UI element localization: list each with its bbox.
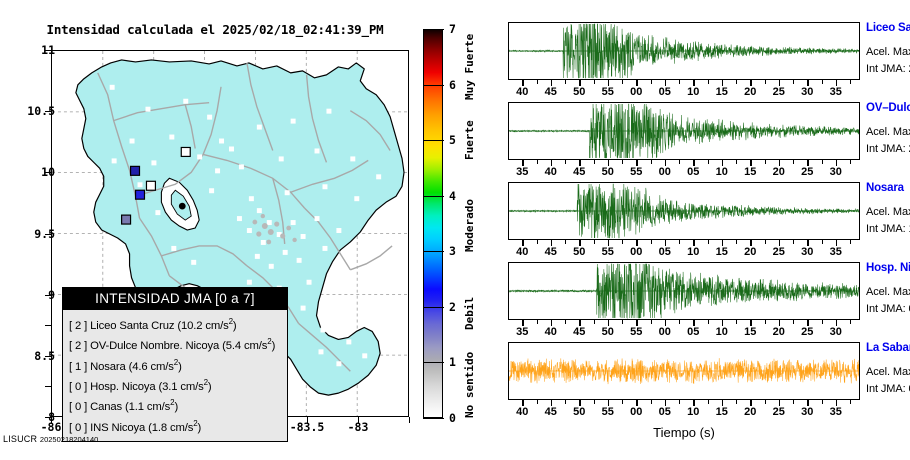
time-tick-label: 15 bbox=[716, 406, 728, 418]
time-minor-tick bbox=[537, 400, 538, 404]
legend-accel-unit: cm/s bbox=[151, 360, 174, 372]
seismogram-info: La SabanaAcel. Max. 0.0Int JMA: 0 bbox=[866, 342, 910, 395]
time-tick-label: 00 bbox=[659, 166, 671, 178]
waveform-polyline bbox=[509, 24, 859, 78]
colorbar-label-5: 5 bbox=[449, 133, 456, 147]
colorbar-tick bbox=[423, 307, 444, 308]
time-minor-tick bbox=[537, 80, 538, 84]
time-minor-tick bbox=[594, 400, 595, 404]
intensity-colorbar bbox=[423, 29, 443, 418]
watermark: LISUCR 20250218204140 bbox=[3, 434, 98, 444]
time-minor-tick bbox=[850, 160, 851, 164]
time-minor-tick bbox=[765, 160, 766, 164]
colorbar-label-2: 2 bbox=[449, 300, 456, 314]
time-minor-tick bbox=[622, 80, 623, 84]
waveform-svg bbox=[509, 103, 859, 159]
waveform-svg bbox=[509, 343, 859, 399]
time-tick-label: 40 bbox=[516, 86, 528, 98]
legend-row: [ 1 ] Nosara (4.6 cm/s2) bbox=[69, 355, 281, 375]
legend-row: [ 0 ] Hosp. Nicoya (3.1 cm/s2) bbox=[69, 375, 281, 395]
time-tick-label: 35 bbox=[830, 86, 842, 98]
time-minor-tick bbox=[651, 240, 652, 244]
station-marker-canas[interactable] bbox=[181, 147, 190, 156]
time-tick-label: 40 bbox=[545, 166, 557, 178]
time-tick-label: 20 bbox=[773, 326, 785, 338]
accel-max-readout: Acel. Max. 0.0 bbox=[866, 366, 910, 378]
legend-accel-unit: cm/s bbox=[205, 320, 228, 332]
page-title: Intensidad calculada el 2025/02/18_02:41… bbox=[0, 22, 430, 37]
legend-jma-value: [ 2 ] bbox=[69, 320, 87, 332]
legend-jma-value: [ 0 ] bbox=[69, 381, 87, 393]
time-minor-tick bbox=[793, 160, 794, 164]
station-marker-hosp-nicoya[interactable] bbox=[146, 181, 155, 190]
time-minor-tick bbox=[708, 400, 709, 404]
legend-row: [ 0 ] Canas (1.1 cm/s2) bbox=[69, 395, 281, 415]
time-minor-tick bbox=[793, 320, 794, 324]
time-tick-label: 35 bbox=[830, 246, 842, 258]
time-tick-label: 40 bbox=[516, 246, 528, 258]
int-jma-readout: Int JMA: 1 bbox=[866, 223, 910, 235]
legend-jma-value: [ 2 ] bbox=[69, 340, 87, 352]
time-tick-label: 55 bbox=[630, 326, 642, 338]
time-tick-label: 50 bbox=[573, 406, 585, 418]
spacer bbox=[866, 274, 910, 286]
time-tick-label: 15 bbox=[716, 246, 728, 258]
x-tick bbox=[409, 417, 410, 423]
time-tick-label: 25 bbox=[773, 406, 785, 418]
time-tick-label: 50 bbox=[602, 166, 614, 178]
y-tick bbox=[45, 325, 51, 326]
station-marker-liceo-santa-crug[interactable] bbox=[131, 166, 140, 175]
colorbar-tick bbox=[423, 362, 444, 363]
time-minor-tick bbox=[765, 80, 766, 84]
colorbar-tick bbox=[423, 196, 444, 197]
time-minor-tick bbox=[622, 160, 623, 164]
legend-accel-unit: cm/s bbox=[147, 401, 170, 413]
time-minor-tick bbox=[736, 160, 737, 164]
time-tick-label: 00 bbox=[659, 326, 671, 338]
time-minor-tick bbox=[850, 400, 851, 404]
legend-jma-value: [ 0 ] bbox=[69, 422, 87, 434]
int-jma-prefix: Int JMA: bbox=[866, 303, 906, 315]
seismogram-row: 354045505500051015202530Hosp. NicoyaAcel… bbox=[468, 262, 910, 342]
legend-accel-exponent: 2 bbox=[170, 398, 174, 407]
time-tick-label: 25 bbox=[773, 86, 785, 98]
int-jma-readout: Int JMA: 2 bbox=[866, 63, 910, 75]
time-tick-label: 05 bbox=[687, 326, 699, 338]
colorbar-tick bbox=[423, 85, 444, 86]
watermark-prefix: LISUCR bbox=[3, 434, 37, 444]
legend-jma-value: [ 0 ] bbox=[69, 401, 87, 413]
time-tick-label: 05 bbox=[659, 406, 671, 418]
time-minor-tick bbox=[708, 80, 709, 84]
station-name-label[interactable]: Nosara bbox=[866, 182, 910, 194]
time-tick-label: 45 bbox=[573, 166, 585, 178]
x-axis-label-5: -83.5 bbox=[290, 420, 325, 434]
time-tick-label: 25 bbox=[801, 166, 813, 178]
time-minor-tick bbox=[822, 80, 823, 84]
accel-max-readout: Acel. Max. 0.2 bbox=[866, 286, 910, 298]
time-tick-label: 15 bbox=[744, 326, 756, 338]
time-minor-tick bbox=[622, 400, 623, 404]
time-tick-label: 20 bbox=[744, 246, 756, 258]
time-minor-tick bbox=[651, 160, 652, 164]
time-minor-tick bbox=[651, 80, 652, 84]
station-name-label[interactable]: Hosp. Nicoya bbox=[866, 262, 910, 274]
legend-station-name: OV-Dulce Nombre. Nicoya bbox=[90, 340, 219, 352]
time-minor-tick bbox=[765, 240, 766, 244]
y-axis-label-2: 9 bbox=[15, 288, 55, 302]
time-tick-label: 55 bbox=[602, 86, 614, 98]
time-tick-label: 30 bbox=[801, 86, 813, 98]
int-jma-prefix: Int JMA: bbox=[866, 383, 906, 395]
colorbar-label-3: 3 bbox=[449, 244, 456, 258]
legend-station-name: Hosp. Nicoya bbox=[90, 381, 155, 393]
time-tick-label: 45 bbox=[545, 86, 557, 98]
colorbar-tick bbox=[423, 29, 444, 30]
legend-accel-value: 3.1 bbox=[162, 381, 177, 393]
colorbar-tick bbox=[423, 140, 444, 141]
seismogram-time-axis: 354045505500051015202530 bbox=[508, 320, 860, 340]
legend-accel-exponent: 2 bbox=[267, 337, 271, 346]
accel-max-prefix: Acel. Max. bbox=[866, 286, 910, 298]
legend-accel-unit: cm/s bbox=[244, 340, 267, 352]
time-tick-label: 10 bbox=[716, 166, 728, 178]
spacer bbox=[866, 354, 910, 366]
time-minor-tick bbox=[708, 160, 709, 164]
time-minor-tick bbox=[537, 320, 538, 324]
time-minor-tick bbox=[679, 240, 680, 244]
time-minor-tick bbox=[708, 240, 709, 244]
time-minor-tick bbox=[850, 80, 851, 84]
legend-accel-exponent: 2 bbox=[204, 378, 208, 387]
legend-station-name: Canas bbox=[90, 401, 122, 413]
seismogram-trace-0[interactable] bbox=[508, 22, 860, 80]
time-minor-tick bbox=[679, 160, 680, 164]
time-tick-label: 05 bbox=[687, 166, 699, 178]
map-panel: Intensidad calculada el 2025/02/18_02:41… bbox=[0, 0, 468, 460]
legend-accel-exponent: 2 bbox=[229, 317, 233, 326]
time-minor-tick bbox=[679, 80, 680, 84]
time-tick-label: 30 bbox=[830, 166, 842, 178]
time-tick-label: 10 bbox=[716, 326, 728, 338]
colorbar-tick bbox=[423, 418, 444, 419]
time-minor-tick bbox=[736, 240, 737, 244]
time-minor-tick bbox=[565, 320, 566, 324]
time-minor-tick bbox=[565, 80, 566, 84]
station-name-label[interactable]: Liceo Santa Cruz bbox=[866, 22, 910, 34]
waveform-svg bbox=[509, 263, 859, 319]
legend-station-name: Nosara bbox=[90, 360, 126, 372]
seismogram-info: Liceo Santa CruzAcel. Max. 1.6Int JMA: 2 bbox=[866, 22, 910, 75]
legend-accel-value: 1.1 bbox=[129, 401, 144, 413]
colorbar-label-6: 6 bbox=[449, 78, 456, 92]
waveform-svg bbox=[509, 23, 859, 79]
time-minor-tick bbox=[708, 320, 709, 324]
time-tick-label: 55 bbox=[602, 246, 614, 258]
accel-max-readout: Acel. Max. 1.6 bbox=[866, 126, 910, 138]
time-minor-tick bbox=[594, 160, 595, 164]
time-minor-tick bbox=[679, 400, 680, 404]
colorbar-label-0: 0 bbox=[449, 411, 456, 425]
time-minor-tick bbox=[793, 240, 794, 244]
time-tick-label: 10 bbox=[687, 86, 699, 98]
spacer bbox=[866, 194, 910, 206]
legend-station-list: [ 2 ] Liceo Santa Cruz (10.2 cm/s2)[ 2 ]… bbox=[63, 310, 287, 441]
time-tick-label: 00 bbox=[630, 86, 642, 98]
accel-max-readout: Acel. Max. 1.1 bbox=[866, 206, 910, 218]
time-minor-tick bbox=[822, 160, 823, 164]
station-name-label[interactable]: La Sabana bbox=[866, 342, 910, 354]
waveform-polyline bbox=[509, 184, 859, 238]
accel-max-prefix: Acel. Max. bbox=[866, 126, 910, 138]
seismogram-panel: 404550550005101520253035Liceo Santa Cruz… bbox=[468, 0, 910, 460]
time-tick-label: 35 bbox=[516, 166, 528, 178]
station-marker-nosara[interactable] bbox=[122, 215, 131, 224]
legend-accel-value: 10.2 bbox=[181, 320, 202, 332]
time-tick-label: 45 bbox=[545, 406, 557, 418]
legend-station-name: INS Nicoya bbox=[90, 422, 145, 434]
y-axis-label-3: 9.5 bbox=[15, 227, 55, 241]
time-tick-label: 05 bbox=[659, 246, 671, 258]
time-tick-label: 35 bbox=[830, 406, 842, 418]
time-minor-tick bbox=[793, 80, 794, 84]
seismogram-time-axis: 404550550005101520253035 bbox=[508, 400, 860, 420]
spacer bbox=[866, 34, 910, 46]
seismogram-time-axis: 404550550005101520253035 bbox=[508, 80, 860, 100]
colorbar-tick bbox=[423, 251, 444, 252]
time-minor-tick bbox=[822, 320, 823, 324]
time-tick-label: 20 bbox=[744, 406, 756, 418]
time-tick-label: 50 bbox=[573, 86, 585, 98]
time-minor-tick bbox=[793, 400, 794, 404]
time-tick-label: 00 bbox=[630, 246, 642, 258]
time-tick-label: 10 bbox=[687, 406, 699, 418]
time-minor-tick bbox=[622, 320, 623, 324]
accel-max-readout: Acel. Max. 1.6 bbox=[866, 46, 910, 58]
time-minor-tick bbox=[822, 240, 823, 244]
time-tick-label: 45 bbox=[573, 326, 585, 338]
time-tick-label: 50 bbox=[602, 326, 614, 338]
legend-accel-value: 4.6 bbox=[132, 360, 147, 372]
x-axis-label-6: -83 bbox=[348, 420, 369, 434]
time-tick-label: 40 bbox=[545, 326, 557, 338]
seismogram-row: 404550550005101520253035NosaraAcel. Max.… bbox=[468, 182, 910, 262]
intensity-legend: INTENSIDAD JMA [0 a 7] [ 2 ] Liceo Santa… bbox=[62, 287, 288, 442]
y-axis-label-5: 10.5 bbox=[15, 104, 55, 118]
time-minor-tick bbox=[594, 240, 595, 244]
legend-accel-exponent: 2 bbox=[174, 358, 178, 367]
time-minor-tick bbox=[765, 320, 766, 324]
time-minor-tick bbox=[565, 240, 566, 244]
seismogram-time-axis: 354045505500051015202530 bbox=[508, 160, 860, 180]
seismogram-info: Hosp. NicoyaAcel. Max. 0.2Int JMA: 0 bbox=[866, 262, 910, 315]
time-minor-tick bbox=[736, 400, 737, 404]
seismogram-trace-2[interactable] bbox=[508, 182, 860, 240]
time-tick-label: 50 bbox=[573, 246, 585, 258]
waveform-svg bbox=[509, 183, 859, 239]
time-tick-label: 30 bbox=[801, 406, 813, 418]
time-tick-label: 45 bbox=[545, 246, 557, 258]
time-tick-label: 10 bbox=[687, 246, 699, 258]
time-minor-tick bbox=[594, 320, 595, 324]
time-minor-tick bbox=[822, 400, 823, 404]
legend-accel-unit: cm/s bbox=[180, 381, 203, 393]
time-minor-tick bbox=[565, 400, 566, 404]
legend-row: [ 0 ] INS Nicoya (1.8 cm/s2) bbox=[69, 416, 281, 436]
time-tick-label: 00 bbox=[630, 406, 642, 418]
x-axis-label-0: -86 bbox=[41, 420, 62, 434]
time-tick-label: 30 bbox=[830, 326, 842, 338]
seismogram-row: 354045505500051015202530OV–Dulce Nombre,… bbox=[468, 102, 910, 182]
time-minor-tick bbox=[622, 240, 623, 244]
accel-max-prefix: Acel. Max. bbox=[866, 206, 910, 218]
seismogram-trace-3[interactable] bbox=[508, 262, 860, 320]
seismogram-info: NosaraAcel. Max. 1.1Int JMA: 1 bbox=[866, 182, 910, 235]
time-minor-tick bbox=[679, 320, 680, 324]
legend-station-name: Liceo Santa Cruz bbox=[90, 320, 174, 332]
time-minor-tick bbox=[850, 240, 851, 244]
time-tick-label: 35 bbox=[516, 326, 528, 338]
seismogram-time-axis: 404550550005101520253035 bbox=[508, 240, 860, 260]
legend-row: [ 2 ] Liceo Santa Cruz (10.2 cm/s2) bbox=[69, 314, 281, 334]
time-minor-tick bbox=[651, 320, 652, 324]
seismogram-trace-4[interactable] bbox=[508, 342, 860, 400]
time-minor-tick bbox=[736, 320, 737, 324]
int-jma-prefix: Int JMA: bbox=[866, 143, 906, 155]
seismogram-trace-1[interactable] bbox=[508, 102, 860, 160]
legend-row: [ 2 ] OV-Dulce Nombre. Nicoya (5.4 cm/s2… bbox=[69, 334, 281, 354]
colorbar-label-1: 1 bbox=[449, 355, 456, 369]
time-tick-label: 55 bbox=[602, 406, 614, 418]
accel-max-prefix: Acel. Max. bbox=[866, 46, 910, 58]
time-minor-tick bbox=[537, 240, 538, 244]
seismogram-info: OV–Dulce Nombre, NicoyaAcel. Max. 1.6Int… bbox=[866, 102, 910, 155]
time-minor-tick bbox=[565, 160, 566, 164]
legend-accel-exponent: 2 bbox=[193, 419, 197, 428]
station-name-label[interactable]: OV–Dulce Nombre, Nicoya bbox=[866, 102, 910, 114]
station-marker-ov-dulce-nombre[interactable] bbox=[136, 190, 145, 199]
int-jma-readout: Int JMA: 2 bbox=[866, 143, 910, 155]
time-tick-label: 30 bbox=[801, 246, 813, 258]
int-jma-prefix: Int JMA: bbox=[866, 63, 906, 75]
seismogram-row: 404550550005101520253035La SabanaAcel. M… bbox=[468, 342, 910, 422]
watermark-id: 20250218204140 bbox=[40, 435, 98, 444]
y-axis-label-6: 11 bbox=[15, 43, 55, 57]
time-minor-tick bbox=[736, 80, 737, 84]
spacer bbox=[866, 114, 910, 126]
int-jma-readout: Int JMA: 0 bbox=[866, 383, 910, 395]
time-tick-label: 20 bbox=[773, 166, 785, 178]
time-tick-label: 20 bbox=[744, 86, 756, 98]
seismogram-x-axis-label: Tiempo (s) bbox=[508, 425, 860, 440]
time-minor-tick bbox=[651, 400, 652, 404]
colorbar-label-4: 4 bbox=[449, 189, 456, 203]
seismogram-row: 404550550005101520253035Liceo Santa Cruz… bbox=[468, 22, 910, 102]
legend-accel-value: 5.4 bbox=[226, 340, 241, 352]
waveform-polyline bbox=[509, 358, 859, 384]
time-tick-label: 05 bbox=[659, 86, 671, 98]
y-tick bbox=[45, 386, 51, 387]
y-axis-label-1: 8.5 bbox=[15, 349, 55, 363]
legend-accel-value: 1.8 bbox=[152, 422, 167, 434]
time-tick-label: 25 bbox=[801, 326, 813, 338]
accel-max-prefix: Acel. Max. bbox=[866, 366, 910, 378]
time-minor-tick bbox=[537, 160, 538, 164]
int-jma-readout: Int JMA: 0 bbox=[866, 303, 910, 315]
time-tick-label: 40 bbox=[516, 406, 528, 418]
int-jma-prefix: Int JMA: bbox=[866, 223, 906, 235]
time-tick-label: 15 bbox=[744, 166, 756, 178]
time-tick-label: 25 bbox=[773, 246, 785, 258]
time-minor-tick bbox=[850, 320, 851, 324]
time-minor-tick bbox=[765, 400, 766, 404]
time-tick-label: 15 bbox=[716, 86, 728, 98]
legend-header: INTENSIDAD JMA [0 a 7] bbox=[63, 288, 287, 310]
colorbar-label-7: 7 bbox=[449, 22, 456, 36]
time-tick-label: 55 bbox=[630, 166, 642, 178]
legend-jma-value: [ 1 ] bbox=[69, 360, 87, 372]
time-minor-tick bbox=[594, 80, 595, 84]
y-axis-label-4: 10 bbox=[15, 165, 55, 179]
legend-accel-unit: cm/s bbox=[170, 422, 193, 434]
